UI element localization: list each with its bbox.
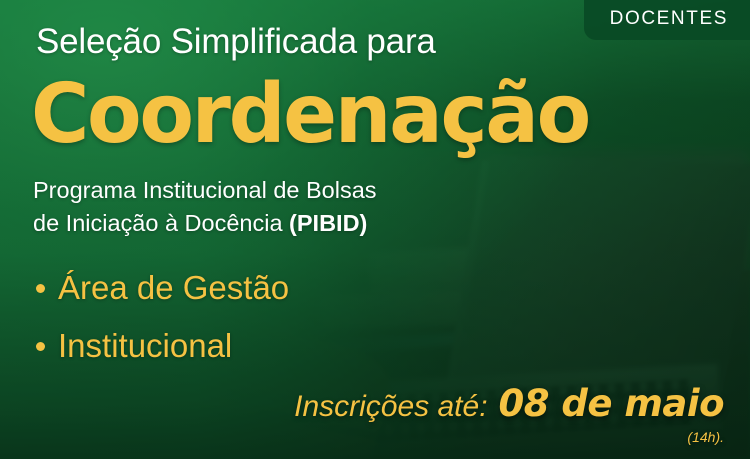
- badge-label: DOCENTES: [610, 8, 728, 29]
- eyebrow-text: Seleção Simplificada para: [36, 22, 436, 61]
- bullet-dot-icon: [36, 342, 45, 351]
- list-item-label: Área de Gestão: [58, 270, 289, 306]
- banner-content: Seleção Simplificada para Coordenação Pr…: [0, 0, 750, 459]
- list-item-label: Institucional: [58, 328, 232, 364]
- subtitle-line-1: Programa Institucional de Bolsas: [33, 174, 377, 207]
- bullet-dot-icon: [36, 284, 45, 293]
- page-title: Coordenação: [31, 74, 589, 156]
- list-item: Institucional: [36, 328, 289, 364]
- deadline-label: Inscrições até:: [294, 390, 487, 424]
- program-subtitle: Programa Institucional de Bolsas de Inic…: [33, 174, 377, 241]
- pibid-coordination-banner: DOCENTES Seleção Simplificada para Coord…: [0, 0, 750, 459]
- program-acronym: (PIBID): [289, 210, 367, 236]
- status-badge: DOCENTES: [584, 0, 750, 40]
- deadline-time: (14h).: [687, 429, 724, 445]
- deadline-block: Inscrições até: 08 de maio: [294, 382, 724, 425]
- subtitle-line-2-prefix: de Iniciação à Docência: [33, 210, 289, 236]
- subtitle-line-2: de Iniciação à Docência (PIBID): [33, 207, 377, 240]
- deadline-date: 08 de maio: [499, 382, 724, 425]
- list-item: Área de Gestão: [36, 270, 289, 306]
- scope-list: Área de Gestão Institucional: [36, 270, 289, 387]
